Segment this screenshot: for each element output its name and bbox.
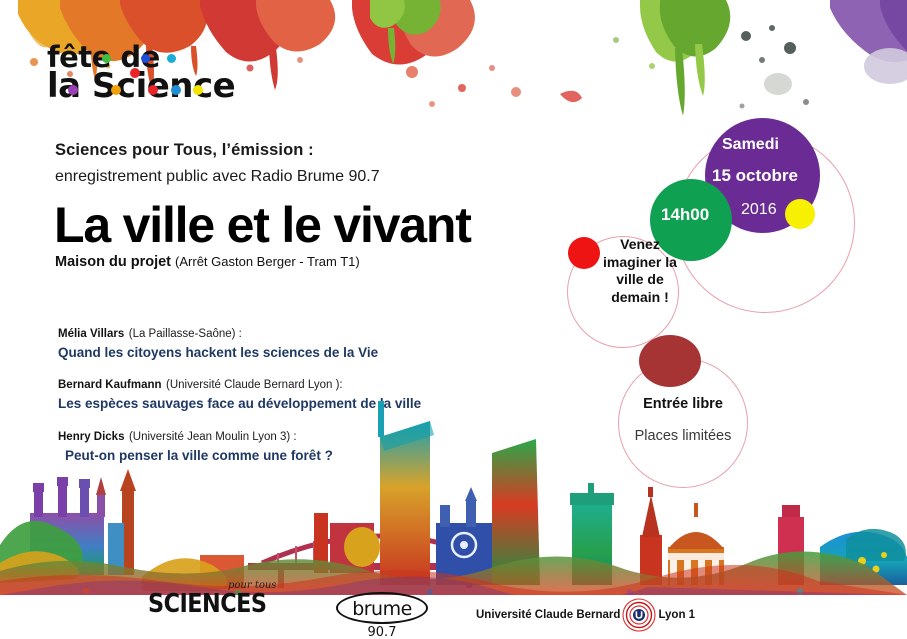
page-title: La ville et le vivant [54, 196, 471, 254]
speaker-entry: Mélia Villars (La Paillasse-Saône) : Qua… [58, 324, 378, 360]
university-name-after: Lyon 1 [658, 609, 695, 621]
venue-detail: (Arrêt Gaston Berger - Tram T1) [175, 254, 360, 269]
venue-line: Maison du projet (Arrêt Gaston Berger - … [55, 254, 360, 270]
fds-line-2: la Science [47, 71, 277, 103]
lyon-skyline-illustration [0, 395, 907, 595]
speaker-name: Henry Dicks [58, 431, 124, 443]
speaker-name: Mélia Villars [58, 328, 124, 340]
radio-brume-logo: brume 90.7 [336, 592, 428, 639]
callout-text: Venez imaginer la ville de demain ! [592, 236, 688, 307]
brume-oval-outline: brume [336, 592, 428, 624]
logo-dot-blue [141, 54, 150, 63]
logo-dot-red-top [130, 68, 140, 78]
event-year-label: 2016 [741, 201, 777, 219]
kicker-text: Sciences pour Tous, l’émission : [55, 141, 314, 160]
speaker-affiliation: (La Paillasse-Saône) : [129, 328, 242, 340]
logo-dot-green [102, 54, 111, 63]
subkicker-text: enregistrement public avec Radio Brume 9… [55, 168, 380, 186]
event-day-label: Samedi [722, 136, 779, 154]
entry-free-label: Entrée libre [620, 396, 746, 412]
universite-lyon1-logo: Université Claude BernardLyon 1 [476, 598, 695, 632]
fete-de-la-science-logo: fête de la Science [47, 44, 277, 103]
dark-red-accent-circle [639, 335, 701, 387]
sciences-logo-word: SCIENCES [148, 589, 266, 619]
brume-logo-word: brume [338, 598, 426, 620]
university-name-before: Université Claude Bernard [476, 609, 620, 621]
speaker-talk-title: Quand les citoyens hackent les sciences … [58, 345, 378, 360]
speaker-name: Bernard Kaufmann [58, 379, 162, 391]
speaker-entry: Bernard Kaufmann (Université Claude Bern… [58, 375, 421, 411]
event-date-label: 15 octobre [712, 166, 798, 186]
logo-dot-orange [111, 85, 121, 95]
poster-canvas: fête de la Science Sciences pour Tous, l… [0, 0, 907, 639]
speaker-talk-title: Peut-on penser la ville comme une forêt … [58, 448, 333, 463]
logo-dot-yellow [193, 85, 203, 95]
limited-seats-label: Places limitées [616, 428, 750, 444]
speaker-entry: Henry Dicks (Université Jean Moulin Lyon… [58, 427, 333, 463]
logo-dot-purple [68, 85, 78, 95]
yellow-accent-circle [785, 199, 815, 229]
venue-name: Maison du projet [55, 254, 171, 270]
brume-frequency: 90.7 [336, 625, 428, 639]
lyon1-rings-icon [622, 598, 656, 632]
logo-dot-red [148, 85, 158, 95]
speaker-affiliation: (Université Jean Moulin Lyon 3) : [129, 431, 297, 443]
speaker-talk-title: Les espèces sauvages face au développeme… [58, 396, 421, 411]
logo-dot-blue-2 [171, 85, 181, 95]
event-time-label: 14h00 [661, 205, 709, 225]
sciences-pour-tous-logo: SCIENCES pour tous [148, 589, 286, 619]
sciences-logo-sub: pour tous [228, 580, 276, 591]
speaker-affiliation: (Université Claude Bernard Lyon ): [166, 379, 343, 391]
logo-dot-cyan [167, 54, 176, 63]
